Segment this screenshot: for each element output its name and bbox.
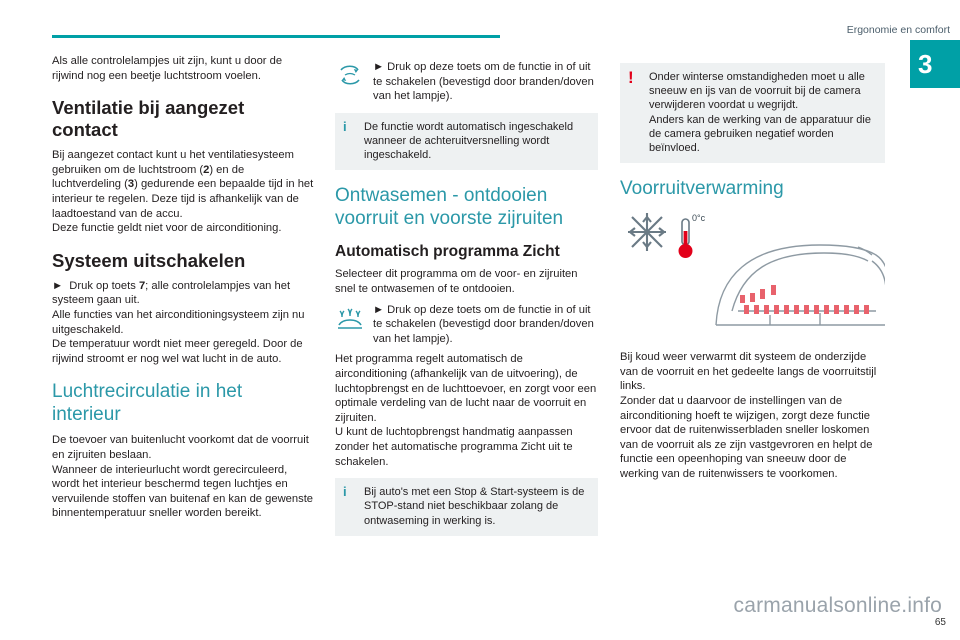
recirculation-text: ► Druk op deze toets om de functie in of… bbox=[373, 60, 598, 104]
note-auto-text: De functie wordt automatisch ingeschakel… bbox=[364, 120, 590, 163]
heading-systeem-uitschakelen: Systeem uitschakelen bbox=[52, 250, 315, 272]
heading-ontwasemen: Ontwasemen - ontdooien voorruit en voors… bbox=[335, 184, 598, 230]
voorruit-paragraph-1: Bij koud weer verwarmt dit systeem de on… bbox=[620, 350, 885, 394]
ventilatie-paragraph-1: Bij aangezet contact kunt u het ventilat… bbox=[52, 148, 315, 221]
voorruit-paragraph-2: Zonder dat u daarvoor de instellingen va… bbox=[620, 394, 885, 482]
luchtrecirculatie-paragraph-2: Wanneer de interieurlucht wordt gerecirc… bbox=[52, 463, 315, 521]
recirculation-icon bbox=[335, 60, 365, 90]
heading-automatisch-programma-zicht: Automatisch programma Zicht bbox=[335, 242, 598, 261]
info-icon: i bbox=[343, 120, 357, 134]
note-auto-recirculation: i De functie wordt automatisch ingeschak… bbox=[335, 113, 598, 171]
column-3: ! Onder winterse omstandigheden moet u a… bbox=[620, 54, 885, 482]
header-rule bbox=[52, 35, 500, 38]
note-winter-warning: ! Onder winterse omstandigheden moet u a… bbox=[620, 63, 885, 163]
zicht-paragraph-3: U kunt de luchtopbrengst handmatig aanpa… bbox=[335, 425, 598, 469]
recirculation-instruction: ► Druk op deze toets om de functie in of… bbox=[335, 60, 598, 104]
luchtrecirculatie-paragraph-1: De toevoer van buitenlucht voorkomt dat … bbox=[52, 433, 315, 462]
uitschakelen-paragraph-2: Alle functies van het airconditioningsys… bbox=[52, 308, 315, 337]
uitschakelen-step: ► Druk op toets 7; alle controlelampjes … bbox=[52, 279, 315, 308]
heading-voorruitverwarming: Voorruitverwarming bbox=[620, 177, 885, 200]
column-1: Als alle controlelampjes uit zijn, kunt … bbox=[52, 54, 315, 521]
thermometer-icon: 0°c bbox=[679, 213, 706, 258]
info-icon: i bbox=[343, 485, 357, 499]
zicht-paragraph-2: Het programma regelt automatisch de airc… bbox=[335, 352, 598, 425]
zicht-paragraph-1: Selecteer dit programma om de voor- en z… bbox=[335, 267, 598, 296]
windscreen-heating-figure: 0°c bbox=[620, 207, 885, 342]
figure-temp-label: 0°c bbox=[692, 213, 706, 223]
heading-luchtrecirculatie: Luchtrecirculatie in het interieur bbox=[52, 380, 315, 426]
snowflake-icon bbox=[628, 213, 666, 251]
chapter-tab: 3 bbox=[910, 40, 960, 88]
note-winter-text-1: Onder winterse omstandigheden moet u all… bbox=[649, 70, 877, 113]
note-winter-text-2: Anders kan de werking van de apparatuur … bbox=[649, 113, 877, 156]
demist-instruction: ► Druk op deze toets om de functie in of… bbox=[335, 303, 598, 347]
note-stop-start: i Bij auto's met een Stop & Start-systee… bbox=[335, 478, 598, 536]
windscreen-demist-icon bbox=[335, 303, 365, 333]
column-2: ► Druk op deze toets om de functie in of… bbox=[335, 54, 598, 545]
uitschakelen-paragraph-3: De temperatuur wordt niet meer geregeld.… bbox=[52, 337, 315, 366]
heading-ventilatie: Ventilatie bij aangezet contact bbox=[52, 97, 315, 141]
watermark: carmanualsonline.info bbox=[734, 594, 943, 618]
warning-icon: ! bbox=[628, 70, 642, 85]
note-stop-start-text: Bij auto's met een Stop & Start-systeem … bbox=[364, 485, 590, 528]
heated-zone bbox=[740, 285, 869, 314]
intro-paragraph: Als alle controlelampjes uit zijn, kunt … bbox=[52, 54, 315, 83]
demist-text: ► Druk op deze toets om de functie in of… bbox=[373, 303, 598, 347]
ventilatie-paragraph-2: Deze functie geldt niet voor de aircondi… bbox=[52, 221, 315, 236]
page-number: 65 bbox=[935, 617, 946, 628]
